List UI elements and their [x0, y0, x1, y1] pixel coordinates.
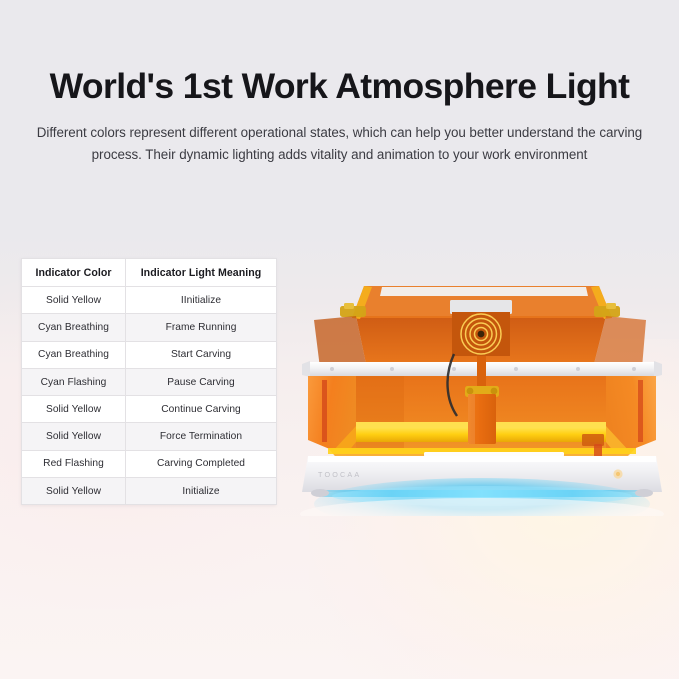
table-row: Solid Yellow IInitialize — [22, 287, 277, 314]
cell-indicator-color: Red Flashing — [22, 450, 126, 477]
cell-indicator-meaning: Start Carving — [126, 341, 277, 368]
enclosure-interior-shade-left — [356, 376, 404, 460]
indicator-table-body: Solid Yellow IInitialize Cyan Breathing … — [22, 287, 277, 505]
indicator-table-head: Indicator Color Indicator Light Meaning — [22, 259, 277, 287]
cell-indicator-color: Solid Yellow — [22, 478, 126, 505]
indicator-table-wrapper: Indicator Color Indicator Light Meaning … — [21, 258, 276, 505]
table-row: Cyan Flashing Pause Carving — [22, 368, 277, 395]
cell-indicator-color: Cyan Flashing — [22, 368, 126, 395]
page-subtitle: Different colors represent different ope… — [36, 122, 644, 165]
chassis-top-rail-left-end — [302, 361, 310, 377]
page-title: World's 1st Work Atmosphere Light — [0, 64, 679, 108]
chassis-base-top-edge — [308, 456, 656, 462]
cell-indicator-meaning: Initialize — [126, 478, 277, 505]
exhaust-fan-module — [450, 300, 512, 356]
table-row: Solid Yellow Initialize — [22, 478, 277, 505]
table-row: Solid Yellow Force Termination — [22, 423, 277, 450]
cell-indicator-color: Solid Yellow — [22, 287, 126, 314]
brand-logo-text: TOOCAA — [318, 470, 361, 479]
column-header-indicator-meaning: Indicator Light Meaning — [126, 259, 277, 287]
chassis-foot-left — [311, 489, 329, 497]
product-image-laser-engraver: TOOCAA — [294, 276, 669, 516]
frame-post-right — [638, 380, 643, 442]
cell-indicator-meaning: Continue Carving — [126, 396, 277, 423]
header: World's 1st Work Atmosphere Light Differ… — [0, 64, 679, 165]
frame-post-left — [322, 380, 327, 442]
cell-indicator-color: Solid Yellow — [22, 396, 126, 423]
indicator-table: Indicator Color Indicator Light Meaning … — [21, 258, 277, 505]
cell-indicator-meaning: IInitialize — [126, 287, 277, 314]
cell-indicator-meaning: Carving Completed — [126, 450, 277, 477]
table-header-row: Indicator Color Indicator Light Meaning — [22, 259, 277, 287]
cell-indicator-meaning: Frame Running — [126, 314, 277, 341]
cell-indicator-color: Solid Yellow — [22, 423, 126, 450]
table-row: Cyan Breathing Frame Running — [22, 314, 277, 341]
table-row: Solid Yellow Continue Carving — [22, 396, 277, 423]
cell-indicator-color: Cyan Breathing — [22, 341, 126, 368]
cell-indicator-meaning: Force Termination — [126, 423, 277, 450]
page-root: World's 1st Work Atmosphere Light Differ… — [0, 0, 679, 679]
chassis-foot-right — [635, 489, 653, 497]
cell-indicator-color: Cyan Breathing — [22, 314, 126, 341]
column-header-indicator-color: Indicator Color — [22, 259, 126, 287]
lid-white-strip — [380, 287, 588, 296]
chassis-top-rail-right-end — [654, 361, 662, 377]
table-row: Cyan Breathing Start Carving — [22, 341, 277, 368]
table-row: Red Flashing Carving Completed — [22, 450, 277, 477]
cell-indicator-meaning: Pause Carving — [126, 368, 277, 395]
